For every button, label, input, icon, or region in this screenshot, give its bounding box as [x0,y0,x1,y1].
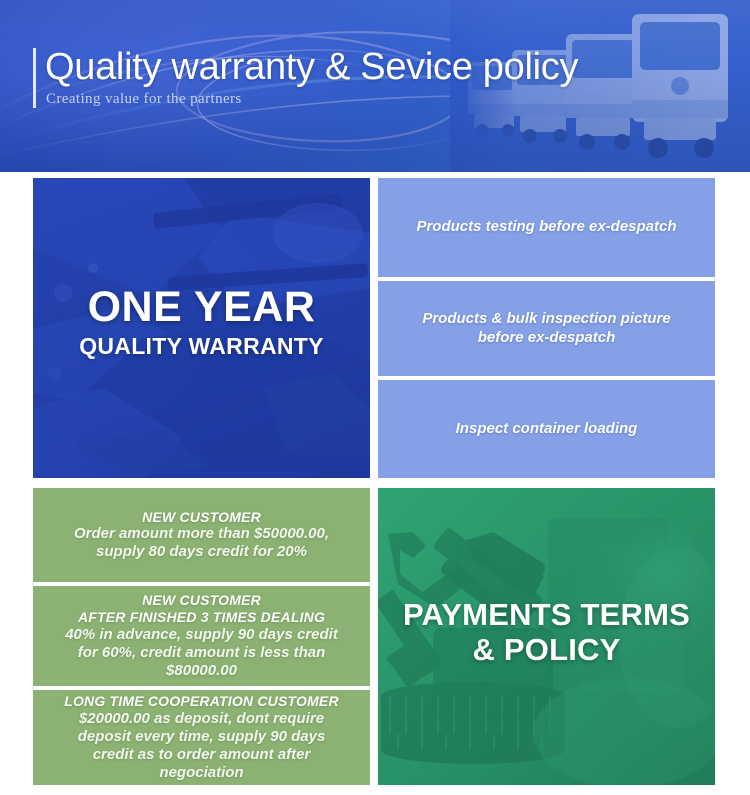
credit-policy-line: $80000.00 [166,662,237,680]
page-subtitle: Creating value for the partners [46,91,242,108]
inspection-box-line: Products & bulk inspection picture [422,310,670,329]
one-year-warranty-panel: ONE YEAR QUALITY WARRANTY [33,178,370,478]
credit-policy-box: LONG TIME COOPERATION CUSTOMER $20000.00… [33,690,370,785]
quality-warranty-service-policy-page: Quality warranty & Sevice policy Creatin… [0,0,750,795]
credit-policy-line: for 60%, credit amount is less than [78,644,326,662]
credit-policy-box: NEW CUSTOMER Order amount more than $500… [33,488,370,582]
page-title: Quality warranty & Sevice policy [45,46,578,89]
inspection-box-line: Products testing before ex-despatch [416,218,676,237]
payments-title-line: PAYMENTS TERMS [378,598,715,633]
page-header-banner: Quality warranty & Sevice policy Creatin… [0,0,750,172]
credit-policy-heading: NEW CUSTOMER [142,509,261,526]
inspection-box: Products testing before ex-despatch [378,178,715,277]
warranty-text-block: ONE YEAR QUALITY WARRANTY [33,286,370,360]
credit-policy-heading: AFTER FINISHED 3 TIMES DEALING [78,609,325,626]
warranty-headline: ONE YEAR [33,286,370,329]
credit-policy-box: NEW CUSTOMER AFTER FINISHED 3 TIMES DEAL… [33,586,370,686]
inspection-box: Inspect container loading [378,380,715,478]
credit-policy-heading: NEW CUSTOMER [142,592,261,609]
inspection-box-line: before ex-despatch [422,329,670,348]
title-accent-bar [33,48,36,108]
credit-policy-line: Order amount more than $50000.00, [74,525,329,543]
inspection-box-line: Inspect container loading [456,420,638,439]
credit-policy-heading: LONG TIME COOPERATION CUSTOMER [64,693,339,710]
credit-policy-line: $20000.00 as deposit, dont require [79,710,324,728]
credit-policy-line: 40% in advance, supply 90 days credit [65,626,338,644]
credit-policy-line: deposit every time, supply 90 days [78,728,326,746]
credit-policy-line: negociation [159,764,243,782]
payments-terms-panel: PAYMENTS TERMS & POLICY [378,488,715,785]
inspection-box: Products & bulk inspection picture befor… [378,281,715,376]
warranty-subheadline: QUALITY WARRANTY [33,333,370,360]
credit-policy-line: supply 80 days credit for 20% [96,543,307,561]
payments-title-line: & POLICY [378,633,715,668]
payments-title-block: PAYMENTS TERMS & POLICY [378,598,715,667]
credit-policy-line: credit as to order amount after [93,746,311,764]
